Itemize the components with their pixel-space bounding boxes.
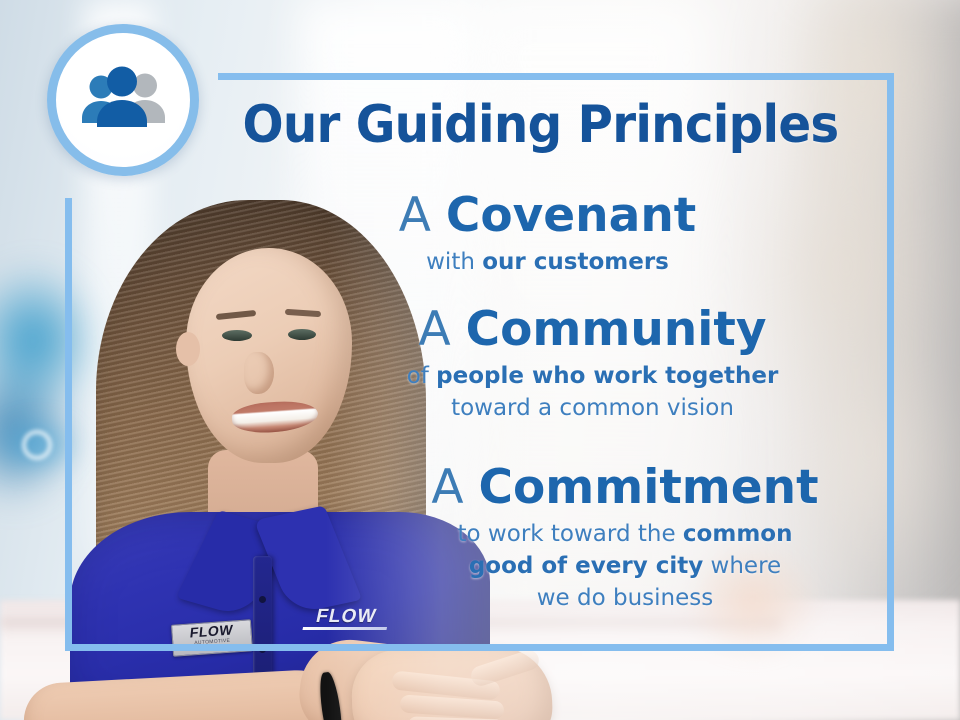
- principle-block-covenant: A Covenant with our customers: [0, 186, 960, 278]
- employee-name-badge: FLOW AUTOMOTIVE: [171, 619, 253, 657]
- principle-line: good of every city where: [290, 550, 960, 582]
- principle-line: toward a common vision: [225, 392, 960, 424]
- principle-heading: A Community: [225, 300, 960, 360]
- principle-article: A: [431, 460, 478, 515]
- principle-block-commitment: A Commitment to work toward the common g…: [0, 458, 960, 614]
- principle-article: A: [399, 188, 446, 243]
- line-plain-before: to work toward the: [458, 521, 683, 547]
- principle-line: of people who work together: [225, 360, 960, 392]
- principle-heading: A Commitment: [290, 458, 960, 518]
- line-plain-before: with: [426, 249, 482, 275]
- principle-heading: A Covenant: [135, 186, 960, 246]
- principle-line: to work toward the common: [290, 518, 960, 550]
- page-title: Our Guiding Principles: [34, 95, 927, 155]
- line-bold: common: [683, 521, 793, 547]
- frame-border-top: [218, 73, 894, 80]
- line-plain-before: toward a common vision: [451, 395, 734, 421]
- principle-line: we do business: [290, 582, 960, 614]
- line-plain-before: we do business: [537, 585, 714, 611]
- line-plain-before: of: [407, 363, 436, 389]
- principle-keyword: Commitment: [479, 460, 819, 515]
- frame-border-bottom: [65, 644, 894, 651]
- principle-keyword: Community: [466, 302, 767, 357]
- line-plain-after: where: [703, 553, 781, 579]
- line-bold: good of every city: [469, 553, 703, 579]
- line-bold: our customers: [482, 249, 669, 275]
- principle-article: A: [419, 302, 466, 357]
- principle-line: with our customers: [135, 246, 960, 278]
- line-bold: people who work together: [436, 363, 778, 389]
- principle-block-community: A Community of people who work together …: [0, 300, 960, 424]
- principle-keyword: Covenant: [446, 188, 696, 243]
- banner-canvas: FLOW FLOW AUTOMOTIVE: [0, 0, 960, 720]
